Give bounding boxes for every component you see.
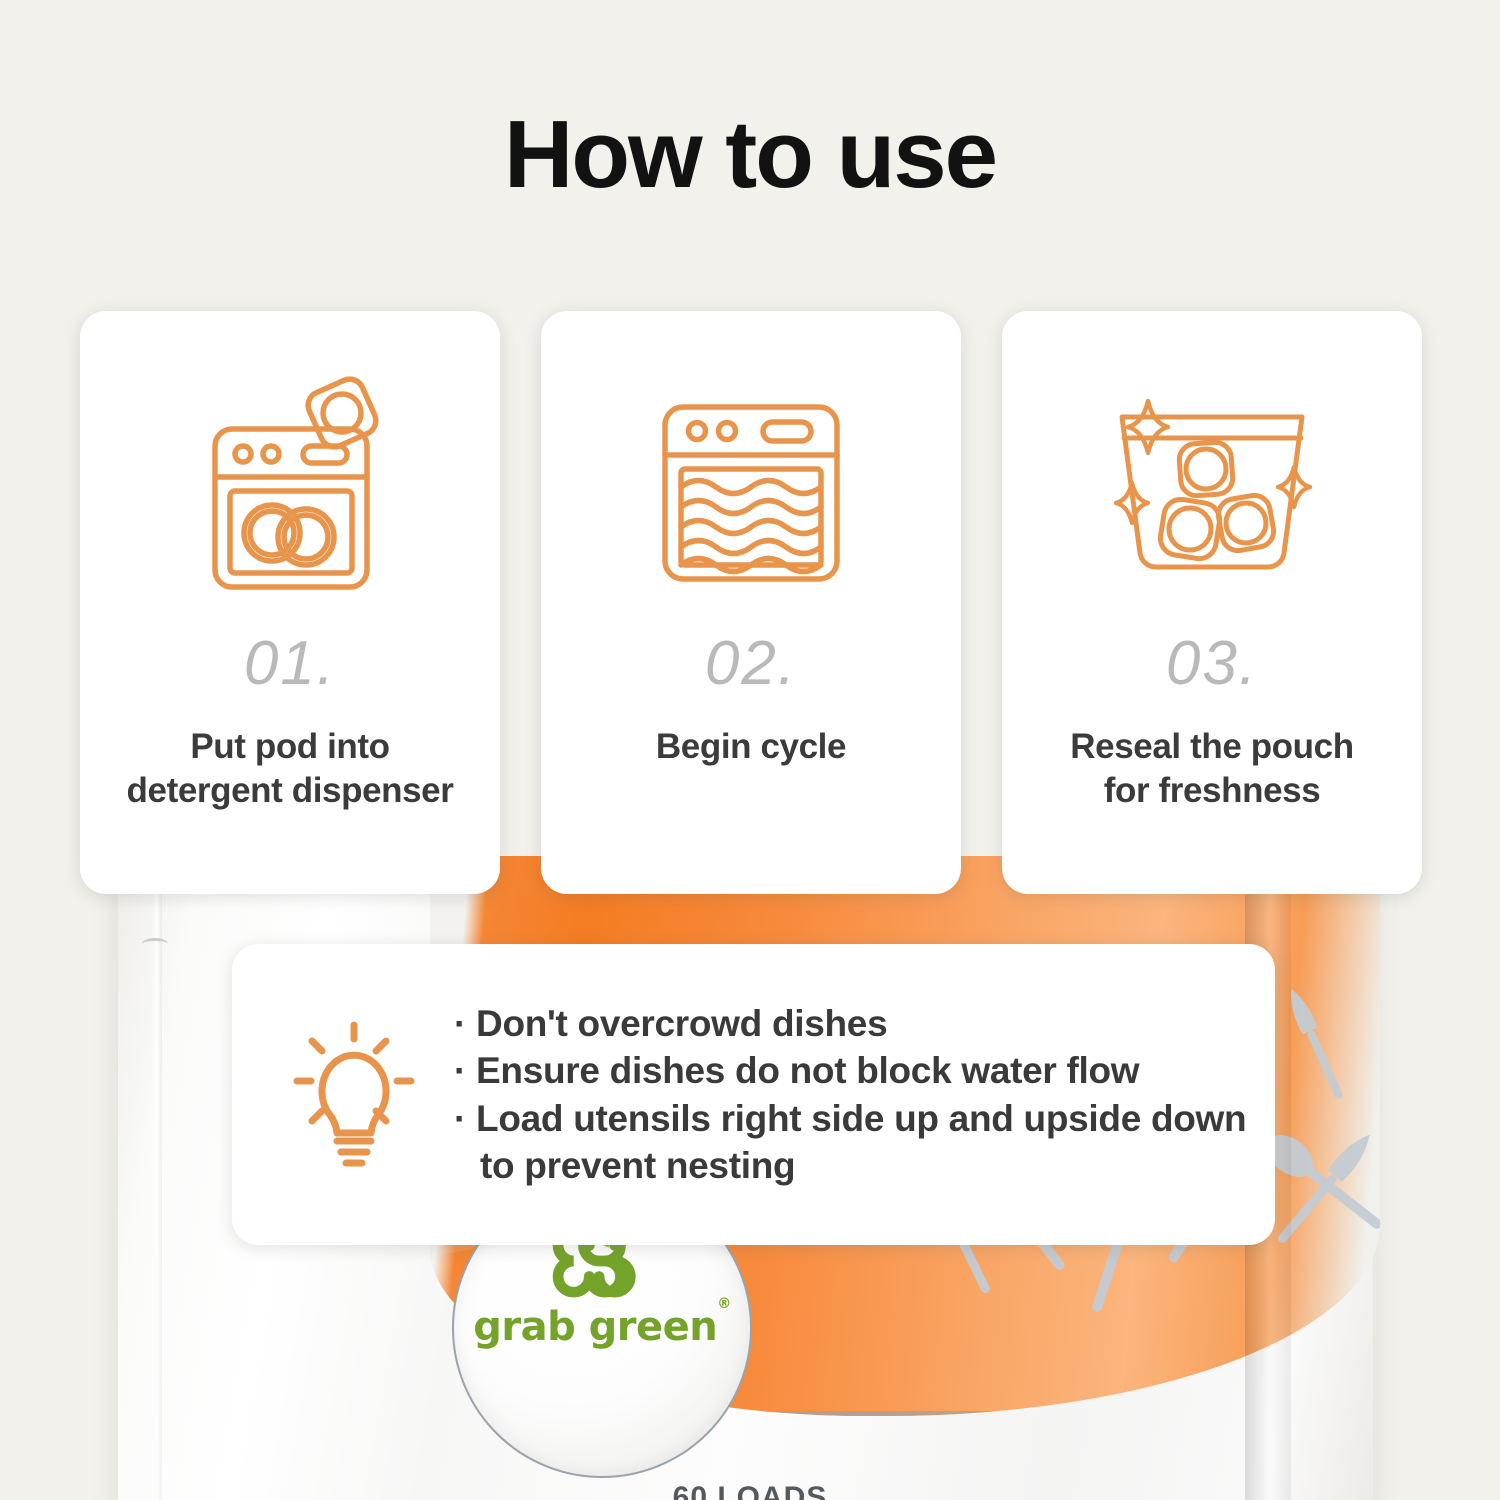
tip-text-2: Ensure dishes do not block water flow <box>476 1050 1139 1091</box>
tips-list: ·Don't overcrowd dishes ·Ensure dishes d… <box>454 1000 1275 1189</box>
tip-bullet-1: · <box>454 1003 476 1044</box>
step-number-3: 03. <box>1166 633 1258 695</box>
tip-bullet-3: · <box>454 1098 476 1139</box>
tip-item-1: ·Don't overcrowd dishes <box>454 1000 1249 1047</box>
tip-item-2: ·Ensure dishes do not block water flow <box>454 1047 1249 1094</box>
tip-item-3: ·Load utensils right side up and upside … <box>454 1095 1249 1190</box>
lightbulb-icon <box>254 1019 454 1171</box>
pouch-seam <box>152 884 162 1500</box>
tips-card[interactable]: ·Don't overcrowd dishes ·Ensure dishes d… <box>232 944 1275 1245</box>
step-card-3[interactable]: 03. Reseal the pouchfor freshness <box>1002 311 1422 894</box>
pouch-load-count: 60 LOADS <box>0 1481 1500 1500</box>
step-card-2[interactable]: 02. Begin cycle <box>541 311 961 894</box>
trademark-symbol: ® <box>717 1296 731 1312</box>
brand-name-text: grab green <box>473 1304 717 1350</box>
dishwasher-running-icon <box>651 373 851 613</box>
pouch-tear-notch <box>142 938 168 950</box>
resealable-pouch-icon <box>1106 373 1318 613</box>
tip-bullet-2: · <box>454 1050 476 1091</box>
tip-text-3: Load utensils right side up and upside d… <box>476 1098 1246 1186</box>
dishwasher-with-pod-icon <box>183 373 398 613</box>
brand-name: grab green® <box>473 1304 731 1350</box>
tip-text-1: Don't overcrowd dishes <box>476 1003 887 1044</box>
step-number-2: 02. <box>705 633 797 695</box>
step-label-2: Begin cycle <box>642 725 860 769</box>
step-label-1: Put pod intodetergent dispenser <box>113 725 468 813</box>
step-card-1[interactable]: 01. Put pod intodetergent dispenser <box>80 311 500 894</box>
step-number-1: 01. <box>244 633 336 695</box>
step-label-3: Reseal the pouchfor freshness <box>1056 725 1367 813</box>
page-title: How to use <box>0 100 1500 210</box>
